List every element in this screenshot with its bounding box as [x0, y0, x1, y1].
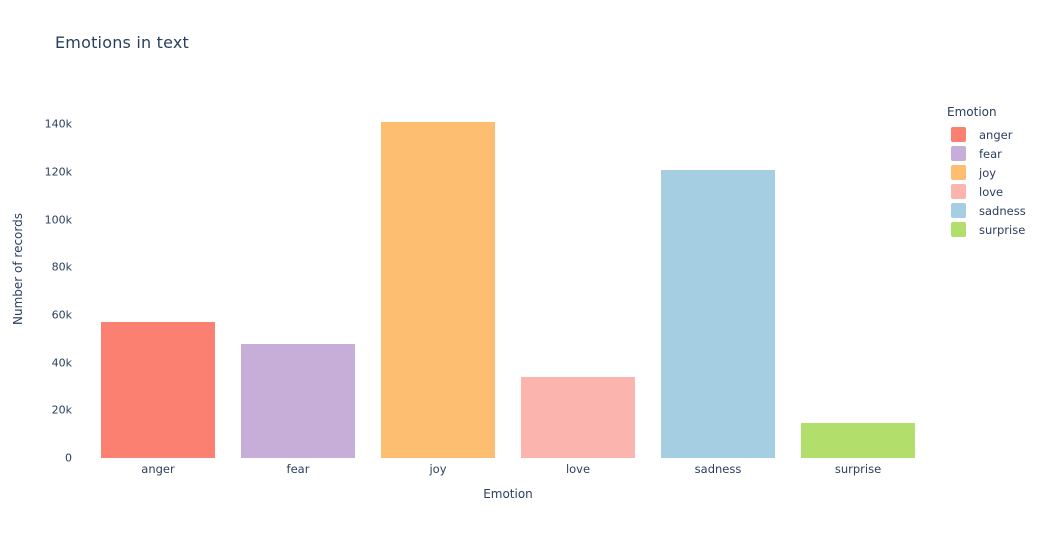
- legend-item-label: anger: [979, 128, 1012, 142]
- bar-joy[interactable]: [381, 122, 495, 458]
- legend-item-anger[interactable]: anger: [951, 125, 1057, 144]
- bars-layer: [88, 110, 928, 458]
- legend-swatch-icon: [951, 146, 966, 161]
- page-title: Emotions in text: [55, 33, 189, 52]
- bar-fear[interactable]: [241, 344, 355, 458]
- legend-item-label: joy: [979, 166, 996, 180]
- legend-swatch-icon: [951, 184, 966, 199]
- legend-items: angerfearjoylovesadnesssurprise: [947, 125, 1057, 239]
- bar-surprise[interactable]: [801, 423, 915, 458]
- legend-title: Emotion: [947, 105, 1057, 119]
- legend-item-label: surprise: [979, 223, 1025, 237]
- legend-item-label: sadness: [979, 204, 1026, 218]
- bar-anger[interactable]: [101, 322, 215, 458]
- x-axis-tick-sadness: sadness: [695, 462, 742, 476]
- legend-item-surprise[interactable]: surprise: [951, 220, 1057, 239]
- x-axis-label: Emotion: [88, 487, 928, 501]
- legend-item-love[interactable]: love: [951, 182, 1057, 201]
- legend-item-joy[interactable]: joy: [951, 163, 1057, 182]
- legend-item-sadness[interactable]: sadness: [951, 201, 1057, 220]
- x-axis-tick-anger: anger: [141, 462, 174, 476]
- y-axis-tick: 100k: [45, 213, 72, 226]
- y-axis-label: Number of records: [11, 204, 25, 334]
- y-axis-tick: 0: [65, 452, 72, 465]
- plot-area: [88, 110, 928, 458]
- legend-item-label: fear: [979, 147, 1002, 161]
- y-axis-tick: 120k: [45, 165, 72, 178]
- bar-sadness[interactable]: [661, 170, 775, 458]
- x-axis-tick-love: love: [566, 462, 590, 476]
- chart-figure: Emotions in text 020k40k60k80k100k120k14…: [0, 0, 1060, 540]
- legend: Emotion angerfearjoylovesadnesssurprise: [947, 105, 1057, 239]
- y-axis-tick: 40k: [52, 356, 72, 369]
- legend-item-fear[interactable]: fear: [951, 144, 1057, 163]
- legend-swatch-icon: [951, 127, 966, 142]
- legend-swatch-icon: [951, 165, 966, 180]
- x-axis-tick-labels: angerfearjoylovesadnesssurprise: [88, 462, 928, 482]
- legend-swatch-icon: [951, 203, 966, 218]
- bar-love[interactable]: [521, 377, 635, 458]
- x-axis-tick-joy: joy: [429, 462, 446, 476]
- legend-swatch-icon: [951, 222, 966, 237]
- x-axis-tick-surprise: surprise: [835, 462, 881, 476]
- y-axis-tick: 20k: [52, 404, 72, 417]
- y-axis-tick: 140k: [45, 118, 72, 131]
- x-axis-tick-fear: fear: [287, 462, 310, 476]
- y-axis-tick: 80k: [52, 261, 72, 274]
- legend-item-label: love: [979, 185, 1003, 199]
- y-axis-tick: 60k: [52, 308, 72, 321]
